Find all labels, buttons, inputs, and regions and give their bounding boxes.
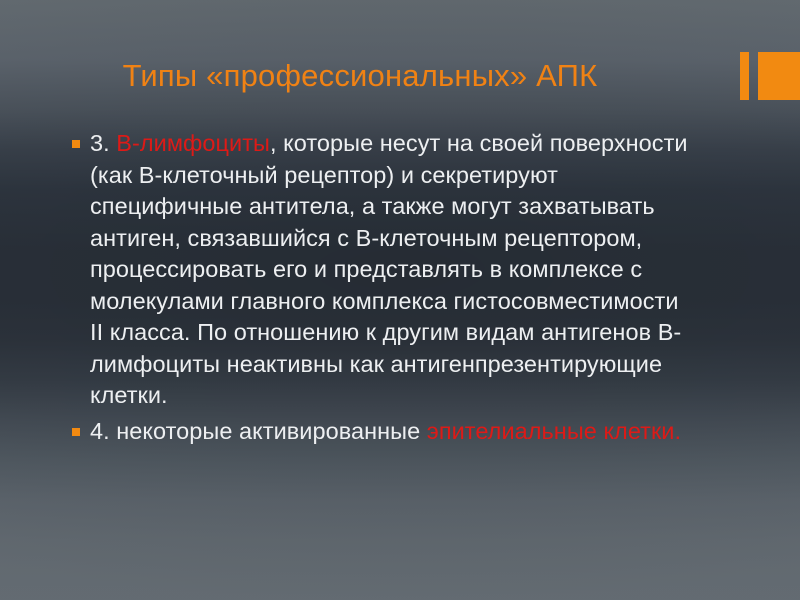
body-text-run: , которые несут на своей поверхности (ка…	[90, 130, 688, 408]
bullet-text-1: 3. В-лимфоциты, которые несут на своей п…	[90, 128, 696, 412]
list-item: 4. некоторые активированные эпителиальны…	[64, 416, 696, 448]
square-bullet-icon	[72, 428, 80, 436]
highlighted-term: В-лимфоциты	[116, 130, 270, 156]
orange-square-block-icon	[758, 52, 800, 100]
presentation-slide: Типы «профессиональных» АПК 3. В-лимфоци…	[0, 0, 800, 600]
body-text-run: 3.	[90, 130, 116, 156]
body-text-run: 4. некоторые активированные	[90, 418, 427, 444]
square-bullet-icon	[72, 140, 80, 148]
slide-title: Типы «профессиональных» АПК	[0, 57, 720, 95]
list-item: 3. В-лимфоциты, которые несут на своей п…	[64, 128, 696, 412]
slide-body: 3. В-лимфоциты, которые несут на своей п…	[64, 128, 696, 451]
orange-vertical-bar-icon	[740, 52, 749, 100]
highlighted-term: эпителиальные клетки.	[427, 418, 681, 444]
bullet-text-2: 4. некоторые активированные эпителиальны…	[90, 416, 696, 448]
